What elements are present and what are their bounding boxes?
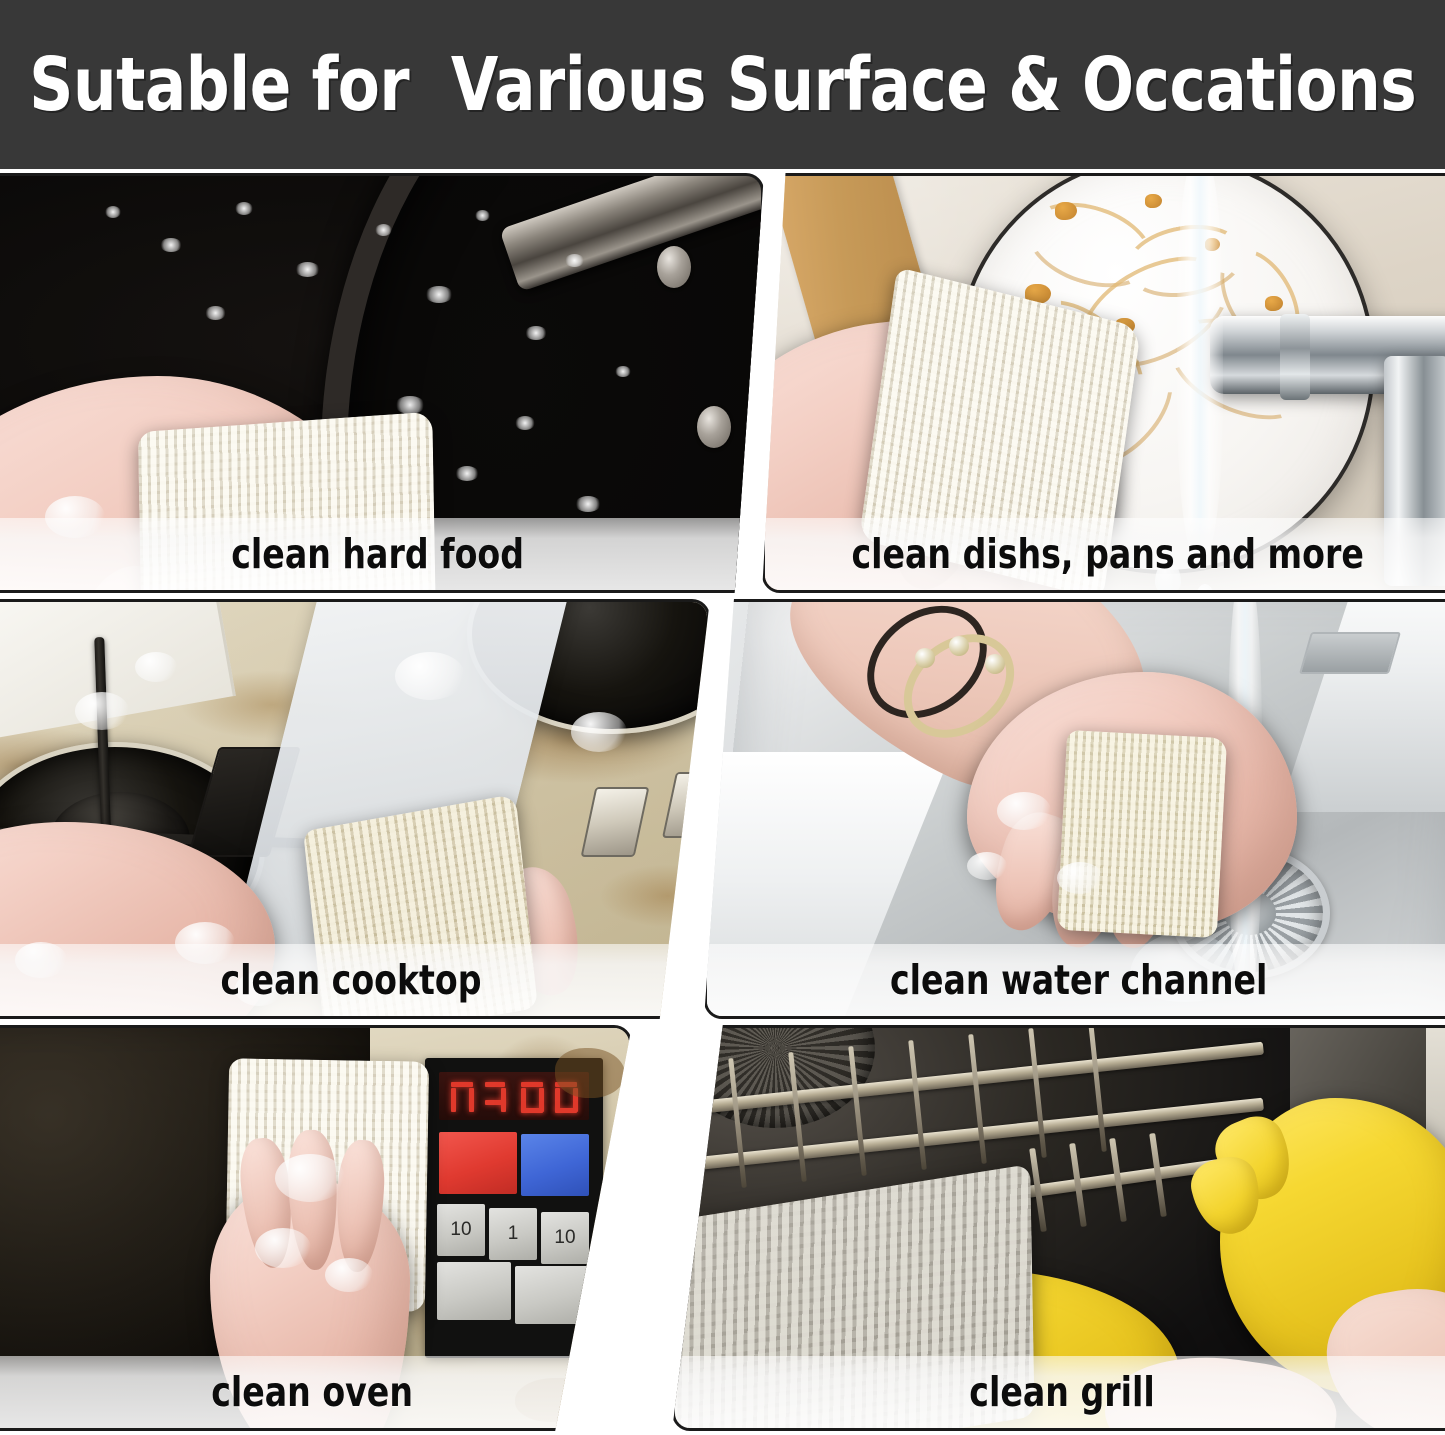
photo-clean-cooktop xyxy=(0,599,710,1019)
panel-clean-oven: 10 1 10 xyxy=(0,1025,632,1431)
oven-key-bottom-right[interactable] xyxy=(515,1266,589,1324)
oven-key-1min[interactable]: 1 xyxy=(489,1208,537,1260)
pan-rivet xyxy=(657,246,691,288)
panel-grid: clean hard food xyxy=(0,169,1445,1435)
panel-clean-hard-food: clean hard food xyxy=(0,173,764,593)
product-infographic: Sutable for Various Surface & Occations xyxy=(0,0,1445,1435)
faucet-neck xyxy=(1384,356,1445,586)
photo-clean-oven: 10 1 10 xyxy=(0,1025,632,1431)
oven-button-range[interactable] xyxy=(439,1132,517,1194)
page-title: Sutable for Various Surface & Occations xyxy=(29,48,1416,122)
oven-control-panel: 10 1 10 xyxy=(425,1058,603,1358)
oven-key-bottom-left[interactable] xyxy=(437,1262,511,1320)
panel-clean-water-channel: clean water channel xyxy=(704,599,1445,1019)
photo-clean-water-channel xyxy=(704,599,1445,1019)
cleaning-cloth xyxy=(303,794,538,1019)
photo-clean-hard-food xyxy=(0,173,764,593)
oven-button-defrost[interactable] xyxy=(521,1134,589,1196)
cleaning-cloth xyxy=(138,412,437,593)
header-banner: Sutable for Various Surface & Occations xyxy=(0,0,1445,169)
cleaning-cloth xyxy=(1057,730,1227,938)
panel-clean-grill: clean grill xyxy=(672,1025,1445,1431)
panel-clean-dishes: clean dishs, pans and more xyxy=(762,173,1445,593)
oven-key-10min[interactable]: 10 xyxy=(437,1204,485,1256)
photo-clean-grill xyxy=(672,1025,1445,1431)
panel-clean-cooktop: clean cooktop xyxy=(0,599,710,1019)
oven-key-10sec[interactable]: 10 xyxy=(541,1212,589,1264)
photo-clean-dishes xyxy=(762,173,1445,593)
pan-rivet xyxy=(697,406,731,448)
water-stream xyxy=(1177,173,1223,556)
